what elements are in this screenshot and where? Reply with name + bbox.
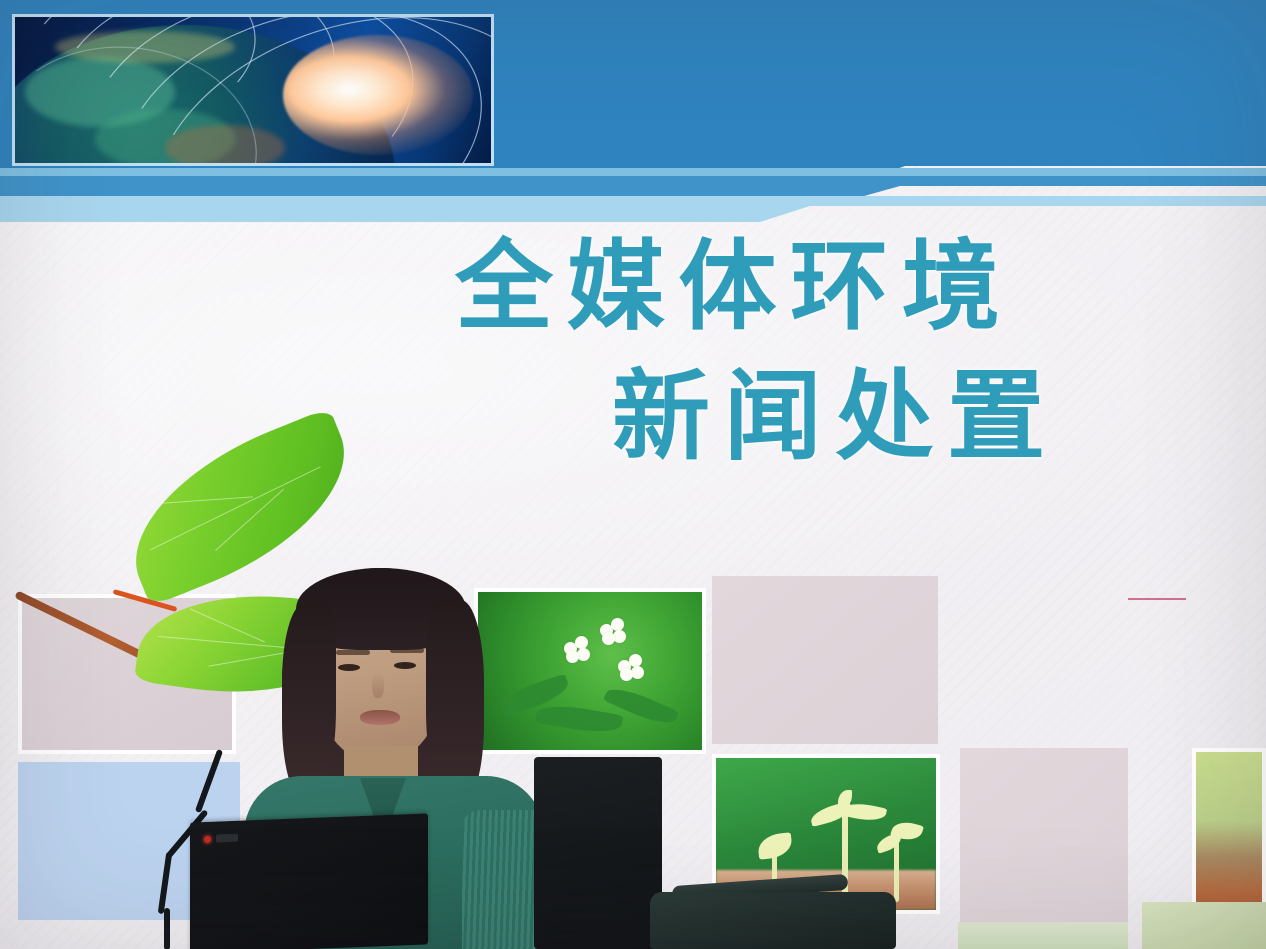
white-flower <box>600 618 626 644</box>
laptop-lid <box>190 813 428 949</box>
power-indicator-icon <box>204 836 211 843</box>
tile-mauve-block-lower <box>960 748 1128 938</box>
photo-scene: 全媒体环境 新闻处置 <box>0 0 1266 949</box>
hair-left <box>282 604 336 800</box>
slide-header-banner <box>0 0 1266 220</box>
banner-band-low <box>0 196 1266 224</box>
sleeve <box>462 810 544 949</box>
tile-mauve-block-upper <box>712 576 938 744</box>
slide-title-line-1: 全媒体环境 <box>455 238 1014 336</box>
white-flower <box>564 636 590 662</box>
podium-monitor <box>534 757 662 949</box>
tile-pale-green-block <box>958 922 1128 949</box>
slide-title-line-2: 新闻处置 <box>612 368 1059 466</box>
table-bag <box>650 892 896 949</box>
laptop-logo <box>216 834 238 843</box>
nose <box>372 672 384 698</box>
white-flower <box>618 654 644 680</box>
seedling <box>878 820 924 902</box>
flower-leaf <box>535 701 624 738</box>
tile-pale-green-block <box>1142 902 1266 949</box>
globe-network-image <box>15 17 491 163</box>
tile-spacer <box>1170 562 1266 572</box>
mouth <box>360 710 400 725</box>
globe-light-burst <box>283 35 473 155</box>
accent-rule <box>1128 598 1186 600</box>
